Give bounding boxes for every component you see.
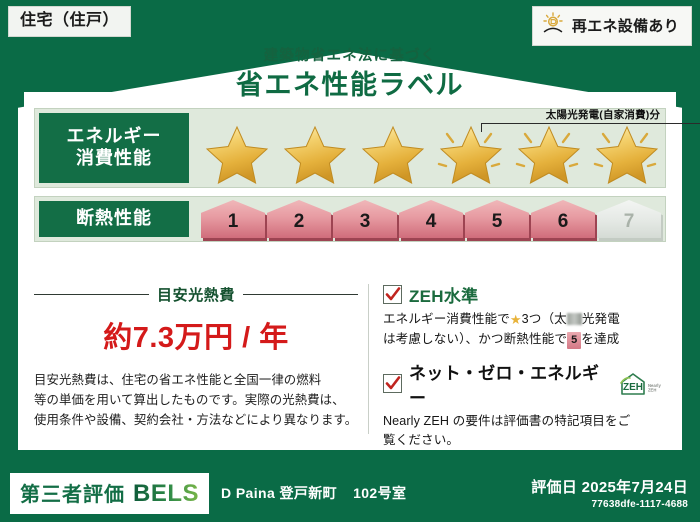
energy-star-rating: [193, 118, 665, 184]
zeh-standard-row: ZEH水準: [383, 282, 666, 307]
label-footer: 第三者評価 BELS D Paina 登戸新町 102号室 評価日 2025年7…: [0, 464, 700, 522]
utility-cost-heading-text: 目安光熱費: [157, 284, 235, 305]
energy-star: [355, 118, 431, 184]
insulation-performance-body: 1 2 3 4 5: [193, 197, 665, 241]
redacted-character: [567, 313, 582, 325]
net-zero-desc-line1: Nearly ZEH の要件は評価書の特記項目をご: [383, 412, 666, 432]
insulation-grade-3: 3: [333, 200, 397, 238]
section-divider: [368, 284, 369, 434]
third-party-label: 第三者評価: [20, 478, 125, 507]
zeh-house-logo: ZEH Nearly ZEH: [618, 371, 666, 397]
grade-number: 2: [294, 211, 305, 238]
inline-star-icon: ★: [510, 312, 522, 327]
utility-cost-value: 約7.3万円 / 年: [34, 314, 358, 356]
utility-cost-note-line2: 等の単価を用いて算出したものです。実際の光熱費は、: [34, 390, 358, 410]
heading-rule-left: [34, 294, 149, 296]
grade-number: 7: [624, 211, 635, 238]
grade-number: 5: [492, 211, 503, 238]
certifications-block: ZEH水準 エネルギー消費性能で★3つ（太光発電 は考慮しない）、かつ断熱性能で…: [379, 280, 666, 440]
zeh-desc-line2-post: を達成: [581, 332, 619, 346]
evaluation-id: 77638dfe-1117-4688: [531, 499, 688, 510]
insulation-grade-6: 6: [531, 200, 595, 238]
utility-cost-note-line1: 目安光熱費は、住宅の省エネ性能と全国一律の燃料: [34, 370, 358, 390]
zeh-desc-line2-pre: は考慮しない）、かつ断熱性能で: [383, 332, 567, 346]
insulation-grade-scale: 1 2 3 4 5: [193, 200, 661, 238]
net-zero-energy-description: Nearly ZEH の要件は評価書の特記項目をご 覧ください。: [383, 412, 666, 451]
renewable-badge-label: 再エネ設備あり: [572, 15, 679, 36]
insulation-grade-5: 5: [465, 200, 529, 238]
evaluation-date: 評価日 2025年7月24日: [531, 476, 688, 497]
renewable-energy-badge: 再エネ設備あり: [532, 6, 692, 46]
bels-wordmark: BELS: [133, 480, 199, 508]
insulation-grade-4: 4: [399, 200, 463, 238]
bels-energy-label: 住宅（住戸） 再エネ設備あり 建築物省エネ法に基づく 省エネ性能ラベル: [0, 0, 700, 522]
energy-star: [277, 118, 353, 184]
net-zero-desc-line2: 覧ください。: [383, 431, 666, 451]
energy-label-line2: 消費性能: [76, 148, 152, 170]
lower-section: 目安光熱費 約7.3万円 / 年 目安光熱費は、住宅の省エネ性能と全国一律の燃料…: [34, 280, 666, 440]
utility-cost-block: 目安光熱費 約7.3万円 / 年 目安光熱費は、住宅の省エネ性能と全国一律の燃料…: [34, 280, 368, 440]
building-type-chip: 住宅（住戸）: [8, 6, 131, 37]
grade-number: 4: [426, 211, 437, 238]
energy-performance-row: エネルギー 消費性能 太陽光発電(自家消費)分: [34, 108, 666, 188]
bels-logo: 第三者評価 BELS: [10, 473, 209, 514]
zeh-standard-description: エネルギー消費性能で★3つ（太光発電 は考慮しない）、かつ断熱性能で5を達成: [383, 310, 666, 350]
energy-label-line1: エネルギー: [67, 126, 162, 148]
label-subtitle: 建築物省エネ法に基づく: [0, 44, 700, 65]
net-zero-energy-row: ネット・ゼロ・エネルギー ZEH Nearly ZEH: [383, 359, 666, 409]
insulation-grade-7: 7: [597, 200, 661, 238]
utility-cost-note: 目安光熱費は、住宅の省エネ性能と全国一律の燃料 等の単価を用いて算出したものです…: [34, 370, 358, 430]
insulation-performance-row: 断熱性能 1 2 3 4: [34, 196, 666, 242]
insulation-grade-1: 1: [201, 200, 265, 238]
label-title: 省エネ性能ラベル: [0, 63, 700, 102]
zeh-desc-mid: 3つ（太: [522, 312, 567, 326]
grade-number: 3: [360, 211, 371, 238]
zeh-standard-title: ZEH水準: [409, 282, 479, 307]
svg-text:ZEH: ZEH: [648, 387, 656, 392]
evaluation-info: 評価日 2025年7月24日 77638dfe-1117-4688: [531, 476, 688, 510]
utility-cost-heading: 目安光熱費: [34, 284, 358, 305]
insulation-grade-2: 2: [267, 200, 331, 238]
energy-star: [199, 118, 275, 184]
insulation-performance-label: 断熱性能: [39, 201, 189, 237]
net-zero-energy-checkbox[interactable]: [383, 374, 402, 393]
energy-performance-body: 太陽光発電(自家消費)分: [193, 109, 665, 187]
zeh-standard-checkbox[interactable]: [383, 285, 402, 304]
sun-icon: [541, 12, 565, 39]
room-number: 102号室: [353, 483, 406, 503]
svg-text:ZEH: ZEH: [623, 382, 643, 393]
grade-number: 6: [558, 211, 569, 238]
energy-star-solar: [511, 118, 587, 184]
zeh-desc-mid2: 光発電: [582, 312, 620, 326]
property-info: D Paina 登戸新町 102号室: [221, 483, 406, 503]
energy-star-solar: [589, 118, 665, 184]
energy-performance-label: エネルギー 消費性能: [39, 113, 189, 183]
inline-grade-badge: 5: [567, 332, 581, 349]
performance-section: エネルギー 消費性能 太陽光発電(自家消費)分: [34, 108, 666, 250]
property-name: D Paina 登戸新町: [221, 483, 337, 503]
heading-rule-right: [243, 294, 358, 296]
utility-cost-note-line3: 使用条件や設備、契約会社・方法などにより異なります。: [34, 410, 358, 430]
net-zero-energy-title: ネット・ゼロ・エネルギー: [409, 359, 607, 409]
grade-number: 1: [228, 211, 239, 238]
energy-star-solar: [433, 118, 509, 184]
zeh-desc-pre: エネルギー消費性能で: [383, 312, 510, 326]
